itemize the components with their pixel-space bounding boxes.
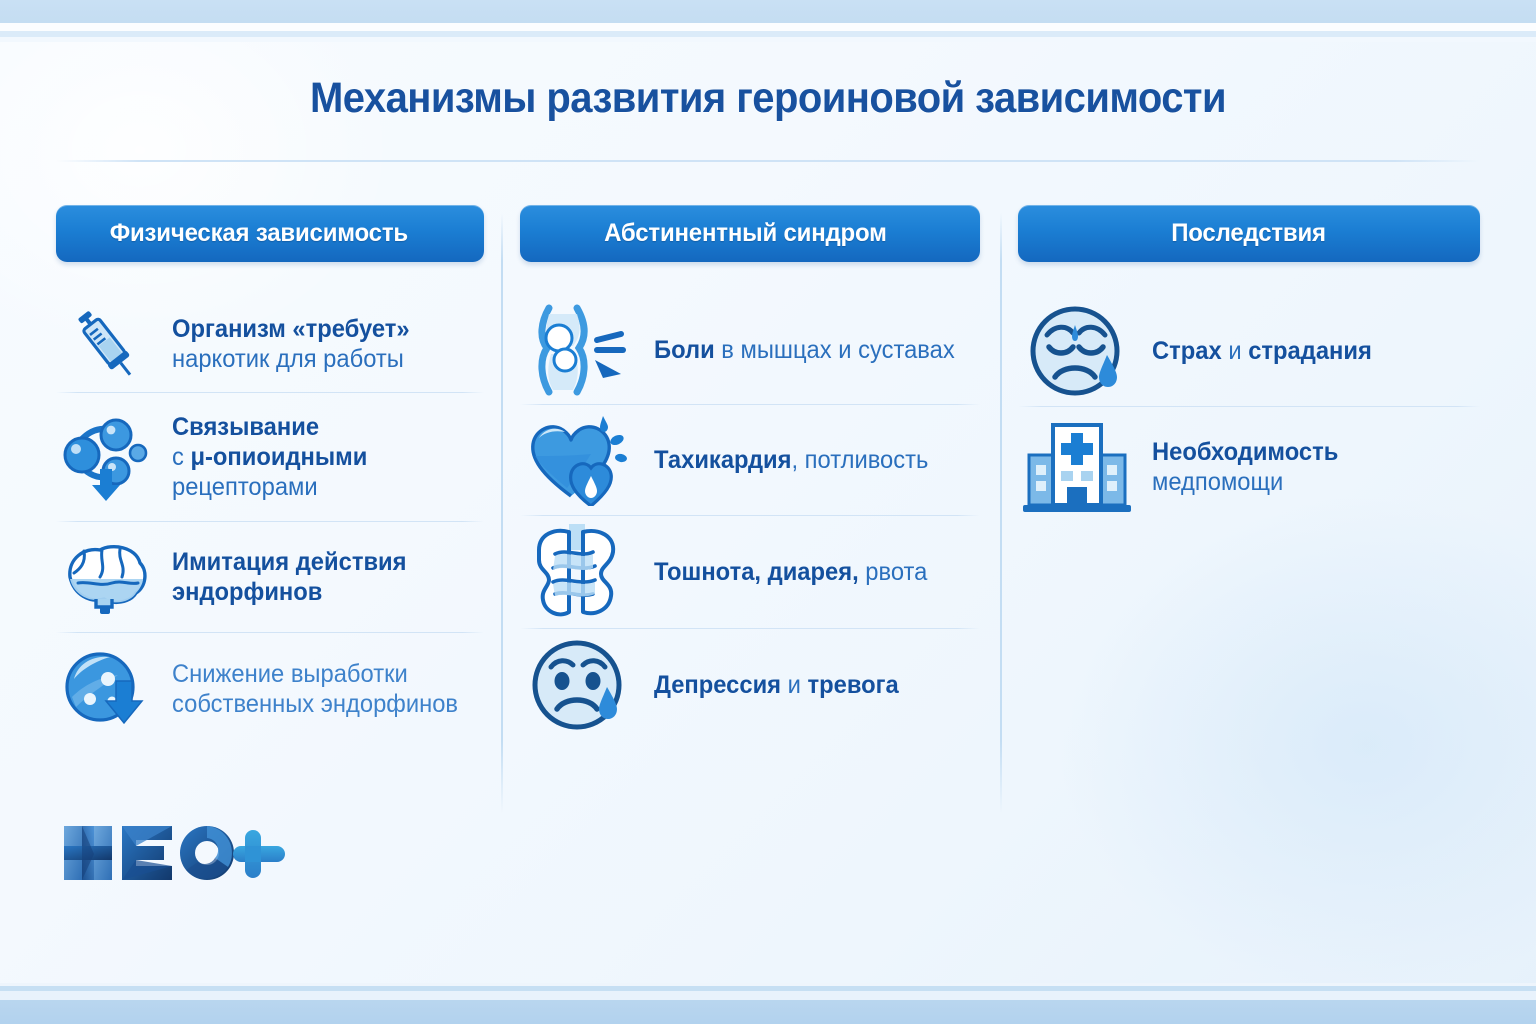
list-item[interactable]: Связывание с μ-опиоидными рецепторами bbox=[56, 393, 484, 521]
item-line-bold: Связывание bbox=[172, 413, 319, 441]
intestine-icon bbox=[520, 524, 638, 620]
item-line-regular: медпомощи bbox=[1152, 468, 1283, 496]
item-text-regular: и bbox=[1222, 337, 1248, 365]
list-item[interactable]: Боли в мышцах и суставах bbox=[520, 296, 980, 404]
column-header-label: Абстинентный синдром bbox=[604, 219, 896, 248]
list-item-text: Имитация действия эндорфинов bbox=[172, 547, 407, 608]
opioid-receptor-molecule-icon bbox=[56, 411, 156, 503]
neo-plus-logo[interactable] bbox=[60, 818, 320, 890]
item-text-regular: , потливость bbox=[791, 446, 928, 474]
column-2-items: Боли в мышцах и суставах bbox=[520, 296, 980, 741]
syringe-icon bbox=[56, 301, 156, 387]
list-item[interactable]: Депрессия и тревога bbox=[520, 629, 980, 741]
list-item[interactable]: Тахикардия, потливость bbox=[520, 405, 980, 515]
item-text-bold: Боли bbox=[654, 336, 715, 364]
item-line-bold: μ-опиоидными bbox=[190, 443, 367, 471]
title-divider bbox=[56, 160, 1480, 162]
item-text-regular: рвота bbox=[859, 558, 928, 586]
item-text-bold: страдания bbox=[1248, 337, 1372, 365]
column-3-items: Страх и страдания bbox=[1018, 296, 1480, 527]
list-item-text: Связывание с μ-опиоидными рецепторами bbox=[172, 412, 367, 503]
list-item-text: Депрессия и тревога bbox=[654, 670, 899, 700]
column-header-withdrawal-syndrome[interactable]: Абстинентный синдром bbox=[520, 205, 980, 262]
list-item-text: Организм «требует» наркотик для работы bbox=[172, 314, 410, 375]
column-1-items: Организм «требует» наркотик для работы bbox=[56, 296, 484, 745]
page-title: Механизмы развития героиновой зависимост… bbox=[54, 74, 1482, 123]
list-item-text: Снижение выработки собственных эндорфино… bbox=[172, 659, 458, 720]
column-physical-dependence: Физическая зависимость bbox=[56, 205, 484, 745]
item-line-prefix: с bbox=[172, 443, 190, 471]
brain-icon bbox=[56, 537, 156, 617]
item-line-bold: Имитация действия bbox=[172, 548, 407, 576]
column-divider-2 bbox=[1000, 213, 1002, 813]
item-line-regular: собственных эндорфинов bbox=[172, 690, 458, 718]
list-item[interactable]: Тошнота, диарея, рвота bbox=[520, 516, 980, 628]
column-header-physical-dependence[interactable]: Физическая зависимость bbox=[56, 205, 484, 262]
column-header-label: Физическая зависимость bbox=[109, 219, 430, 248]
item-line-bold: эндорфинов bbox=[172, 578, 322, 606]
list-item-text: Тошнота, диарея, рвота bbox=[654, 557, 927, 587]
item-line-regular: рецепторами bbox=[172, 473, 318, 501]
top-band-white bbox=[0, 23, 1536, 31]
item-text-regular: и bbox=[781, 671, 807, 699]
column-consequences: Последствия bbox=[1018, 205, 1480, 527]
list-item[interactable]: Необходимость медпомощи bbox=[1018, 407, 1480, 527]
list-item[interactable]: Страх и страдания bbox=[1018, 296, 1480, 406]
sad-face-tear-icon bbox=[520, 637, 638, 733]
list-item-text: Боли в мышцах и суставах bbox=[654, 335, 955, 365]
hospital-icon bbox=[1018, 417, 1136, 517]
column-withdrawal-syndrome: Абстинентный синдром bbox=[520, 205, 980, 741]
column-divider-1 bbox=[501, 213, 503, 813]
item-line-bold: Организм «требует» bbox=[172, 315, 410, 343]
worried-face-tear-icon bbox=[1018, 303, 1136, 399]
item-line-bold: Необходимость bbox=[1152, 438, 1338, 466]
item-line-regular: наркотик для работы bbox=[172, 345, 404, 373]
heart-sweat-icon bbox=[520, 414, 638, 506]
endorphin-decrease-icon bbox=[56, 643, 156, 735]
column-header-label: Последствия bbox=[1172, 219, 1327, 248]
list-item-text: Необходимость медпомощи bbox=[1152, 437, 1338, 498]
columns-container: Физическая зависимость bbox=[0, 205, 1536, 825]
item-text-bold: тревога bbox=[808, 671, 899, 699]
bottom-band-white bbox=[0, 991, 1536, 1000]
top-band-light bbox=[0, 37, 1536, 42]
list-item-text: Тахикардия, потливость bbox=[654, 445, 928, 475]
item-text-bold: Страх bbox=[1152, 337, 1222, 365]
item-text-bold: Депрессия bbox=[654, 671, 781, 699]
item-text-bold: Тахикардия bbox=[654, 446, 791, 474]
item-text-bold: Тошнота, диарея, bbox=[654, 558, 859, 586]
list-item-text: Страх и страдания bbox=[1152, 336, 1372, 366]
infographic-poster: Механизмы развития героиновой зависимост… bbox=[0, 0, 1536, 1024]
bottom-band-primary bbox=[0, 1000, 1536, 1024]
joint-pain-icon bbox=[520, 304, 638, 396]
item-line-regular: Снижение выработки bbox=[172, 660, 408, 688]
item-text-regular: в мышцах и суставах bbox=[715, 336, 955, 364]
list-item[interactable]: Имитация действия эндорфинов bbox=[56, 522, 484, 632]
column-header-consequences[interactable]: Последствия bbox=[1018, 205, 1480, 262]
list-item[interactable]: Снижение выработки собственных эндорфино… bbox=[56, 633, 484, 745]
top-band-primary bbox=[0, 0, 1536, 23]
list-item[interactable]: Организм «требует» наркотик для работы bbox=[56, 296, 484, 392]
